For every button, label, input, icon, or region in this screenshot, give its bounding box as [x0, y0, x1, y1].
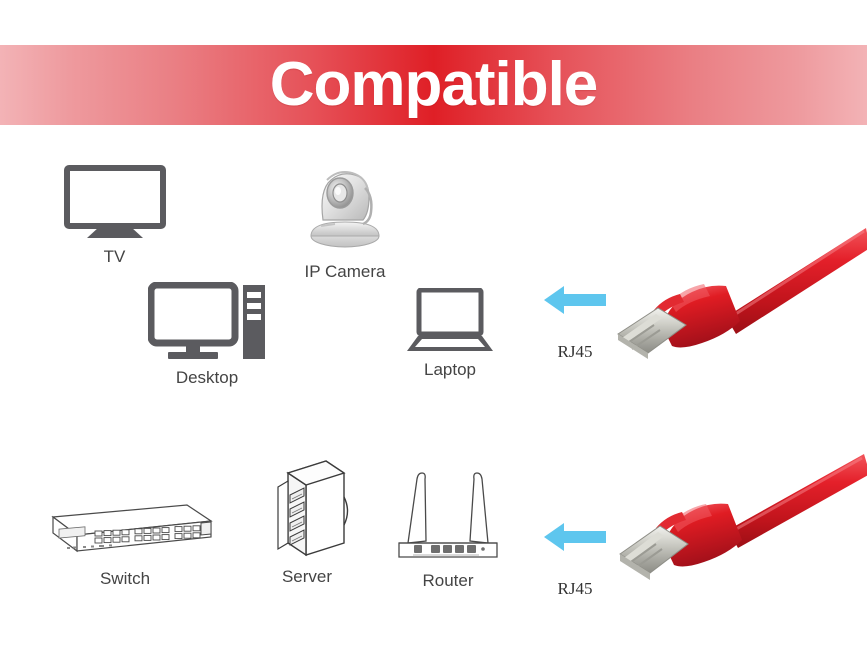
device-label-ip-camera: IP Camera — [305, 262, 386, 282]
device-ip-camera: IP Camera — [295, 160, 395, 282]
device-label-switch: Switch — [100, 569, 150, 589]
arrow-left-icon — [544, 283, 606, 322]
compatible-banner: Compatible — [0, 45, 867, 125]
device-router: Router — [392, 465, 504, 591]
connector-rj45-bottom: RJ45 — [535, 520, 615, 599]
laptop-icon — [406, 288, 494, 354]
device-switch: Switch — [35, 495, 215, 589]
device-laptop: Laptop — [405, 288, 495, 380]
server-rack-icon — [264, 455, 350, 561]
device-label-tv: TV — [104, 247, 126, 267]
ip-camera-icon — [297, 160, 393, 256]
device-label-router: Router — [422, 571, 473, 591]
device-label-desktop: Desktop — [176, 368, 238, 388]
network-switch-icon — [37, 495, 213, 563]
device-server: Server — [262, 455, 352, 587]
connector-label-rj45-bottom: RJ45 — [558, 579, 593, 599]
connector-rj45-top: RJ45 — [535, 283, 615, 362]
device-label-laptop: Laptop — [424, 360, 476, 380]
page-title: Compatible — [270, 54, 598, 116]
device-desktop: Desktop — [147, 282, 267, 388]
red-patch-cable-top — [608, 222, 867, 372]
tv-icon — [63, 165, 167, 241]
desktop-computer-icon — [148, 282, 266, 362]
wifi-router-icon — [393, 465, 503, 565]
device-label-server: Server — [282, 567, 332, 587]
arrow-left-icon — [544, 520, 606, 559]
connector-label-rj45-top: RJ45 — [558, 342, 593, 362]
red-patch-cable-bottom — [598, 452, 867, 632]
device-tv: TV — [62, 165, 167, 267]
